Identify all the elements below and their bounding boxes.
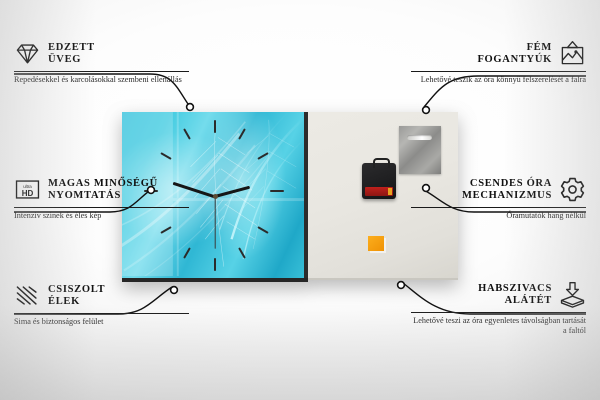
callout-description: Óramutatók hang nélkül bbox=[411, 211, 586, 221]
connector-dot-habszivacs bbox=[398, 282, 405, 289]
callout-title-line1: HABSZIVACS bbox=[478, 283, 552, 294]
callout-habszivacs-alatet[interactable]: HABSZIVACS ALÁTÉT Lehetővé teszi az óra … bbox=[411, 281, 586, 336]
callout-title-line2: ALÁTÉT bbox=[505, 295, 552, 306]
hanger-slot bbox=[407, 135, 432, 140]
clock-second-hand bbox=[214, 197, 215, 249]
callout-title-line1: CSISZOLT bbox=[48, 284, 105, 295]
callout-title-line1: CSENDES ÓRA bbox=[470, 178, 552, 189]
callout-title-line1: MAGAS MINŐSÉGŰ bbox=[48, 178, 158, 189]
callout-divider bbox=[14, 71, 189, 72]
callout-magas-minosegu-nyomtatas[interactable]: ultra HD MAGAS MINŐSÉGŰ NYOMTATÁS Intenz… bbox=[14, 176, 189, 221]
callout-fem-fogantyuk[interactable]: FÉM FOGANTYÚK Lehetővé teszik az óra kön… bbox=[411, 40, 586, 85]
callout-title-line2: MECHANIZMUS bbox=[462, 190, 552, 201]
callout-divider bbox=[411, 207, 586, 208]
product-infographic: EDZETT ÜVEG Repedésekkel és karcolásokka… bbox=[0, 0, 600, 400]
callout-title-line2: ÜVEG bbox=[48, 54, 81, 65]
diamond-icon bbox=[14, 40, 41, 67]
clock-mark bbox=[214, 120, 216, 133]
callout-edzett-uveg[interactable]: EDZETT ÜVEG Repedésekkel és karcolásokka… bbox=[14, 40, 189, 85]
battery bbox=[365, 187, 393, 196]
ultra-hd-icon: ultra HD bbox=[14, 176, 41, 203]
foam-pad bbox=[368, 236, 384, 251]
callout-description: Lehetővé teszi az óra egyenletes távolsá… bbox=[411, 316, 586, 336]
svg-text:HD: HD bbox=[22, 189, 34, 198]
foam-pad-arrow-icon bbox=[559, 281, 586, 308]
quiet-clock-mechanism bbox=[362, 163, 396, 199]
polished-edges-icon bbox=[14, 282, 41, 309]
callout-title-line2: NYOMTATÁS bbox=[48, 190, 121, 201]
clock-center-hub bbox=[213, 194, 218, 199]
clock-mark bbox=[270, 190, 284, 192]
clock-mark bbox=[214, 258, 216, 271]
callout-description: Sima és biztonságos felület bbox=[14, 317, 189, 327]
wall-mount-frame-icon bbox=[559, 40, 586, 67]
metal-hanger-plate bbox=[399, 126, 441, 174]
callout-title-line1: FÉM bbox=[527, 42, 552, 53]
callout-csiszolt-elek[interactable]: CSISZOLT ÉLEK Sima és biztonságos felüle… bbox=[14, 282, 189, 327]
callout-divider bbox=[411, 312, 586, 313]
mechanism-loop bbox=[373, 158, 390, 168]
callout-description: Intenzív színek és éles kép bbox=[14, 211, 189, 221]
connector-dot-edzett-uveg bbox=[187, 104, 194, 111]
callout-divider bbox=[14, 313, 189, 314]
callout-divider bbox=[411, 71, 586, 72]
gear-icon bbox=[559, 176, 586, 203]
callout-title-line2: ÉLEK bbox=[48, 296, 80, 307]
callout-csendes-ora-mechanizmus[interactable]: CSENDES ÓRA MECHANIZMUS Óramutatók hang … bbox=[411, 176, 586, 221]
callout-description: Repedésekkel és karcolásokkal szembeni e… bbox=[14, 75, 189, 85]
callout-description: Lehetővé teszik az óra könnyű felszerelé… bbox=[411, 75, 586, 85]
callout-title-line1: EDZETT bbox=[48, 42, 95, 53]
callout-divider bbox=[14, 207, 189, 208]
callout-title-line2: FOGANTYÚK bbox=[477, 54, 552, 65]
